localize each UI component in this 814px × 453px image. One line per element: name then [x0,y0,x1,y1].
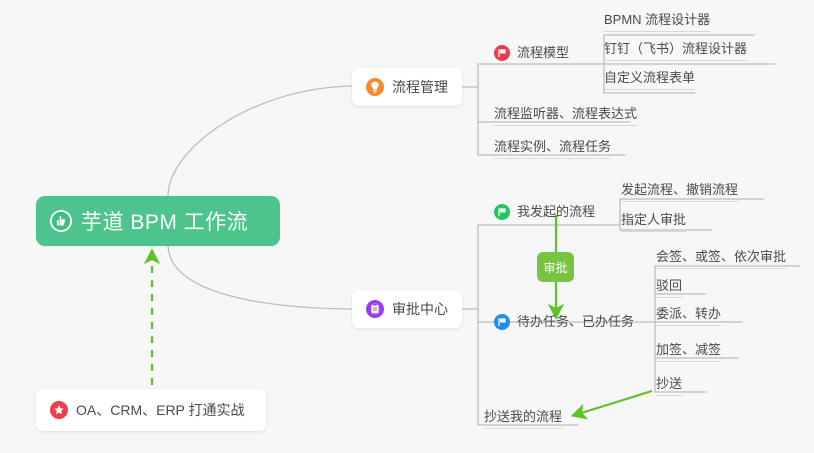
star-icon [50,401,68,419]
node-todo-done-tasks-label: 待办任务、已办任务 [517,313,634,330]
node-process-instance-task[interactable]: 流程实例、流程任务 [494,138,611,159]
approval-badge[interactable]: 审批 [537,252,574,282]
node-cc-label: 抄送 [656,375,682,392]
node-reject-label: 驳回 [656,277,682,294]
node-dingtalk-feishu-designer-label: 钉钉（飞书）流程设计器 [604,40,747,57]
node-my-initiated-process-label: 我发起的流程 [517,203,595,220]
node-bpmn-designer-label: BPMN 流程设计器 [604,11,710,28]
node-cc-to-me-process[interactable]: 抄送我的流程 [484,408,562,429]
node-countersign-orsign-sequential-label: 会签、或签、依次审批 [656,248,786,265]
branch-node-process-management[interactable]: 流程管理 [352,68,462,106]
node-process-instance-task-label: 流程实例、流程任务 [494,138,611,155]
cc-to-process-arrow [578,391,652,414]
node-bpmn-designer[interactable]: BPMN 流程设计器 [604,11,710,32]
integration-node-label: OA、CRM、ERP 打通实战 [76,400,245,420]
flag-icon [494,204,510,220]
node-process-listener-expression[interactable]: 流程监听器、流程表达式 [494,105,637,126]
node-process-model[interactable]: 流程模型 [494,44,569,61]
branch-node-approval-center[interactable]: 审批中心 [352,290,462,328]
node-cc-to-me-process-label: 抄送我的流程 [484,408,562,425]
node-assignee-approval[interactable]: 指定人审批 [621,211,686,232]
node-cc[interactable]: 抄送 [656,375,682,396]
node-delegate-transfer[interactable]: 委派、转办 [656,305,721,326]
integration-node[interactable]: OA、CRM、ERP 打通实战 [36,389,266,431]
node-dingtalk-feishu-designer[interactable]: 钉钉（飞书）流程设计器 [604,40,747,61]
node-start-cancel-process-label: 发起流程、撤销流程 [621,181,738,198]
node-process-model-label: 流程模型 [517,44,569,61]
mindmap-canvas: 芋道 BPM 工作流 流程管理 审批中心 [0,0,814,453]
clipboard-icon [366,300,384,318]
branch-label-process-management: 流程管理 [392,77,448,97]
node-custom-process-form[interactable]: 自定义流程表单 [604,69,695,90]
node-todo-done-tasks[interactable]: 待办任务、已办任务 [494,313,634,330]
node-start-cancel-process[interactable]: 发起流程、撤销流程 [621,181,738,202]
node-add-remove-sign-label: 加签、减签 [656,341,721,358]
thumbs-up-icon [50,210,72,232]
approval-badge-label: 审批 [543,259,567,276]
node-countersign-orsign-sequential[interactable]: 会签、或签、依次审批 [656,248,786,269]
flag-icon [494,45,510,61]
node-add-remove-sign[interactable]: 加签、减签 [656,341,721,362]
branch-label-approval-center: 审批中心 [392,299,448,319]
root-label: 芋道 BPM 工作流 [81,206,248,236]
node-reject[interactable]: 驳回 [656,277,682,298]
node-process-listener-expression-label: 流程监听器、流程表达式 [494,105,637,122]
node-my-initiated-process[interactable]: 我发起的流程 [494,203,595,220]
flag-icon [494,314,510,330]
root-node[interactable]: 芋道 BPM 工作流 [36,196,280,246]
node-custom-process-form-label: 自定义流程表单 [604,69,695,86]
lightbulb-icon [366,78,384,96]
node-assignee-approval-label: 指定人审批 [621,211,686,228]
node-delegate-transfer-label: 委派、转办 [656,305,721,322]
